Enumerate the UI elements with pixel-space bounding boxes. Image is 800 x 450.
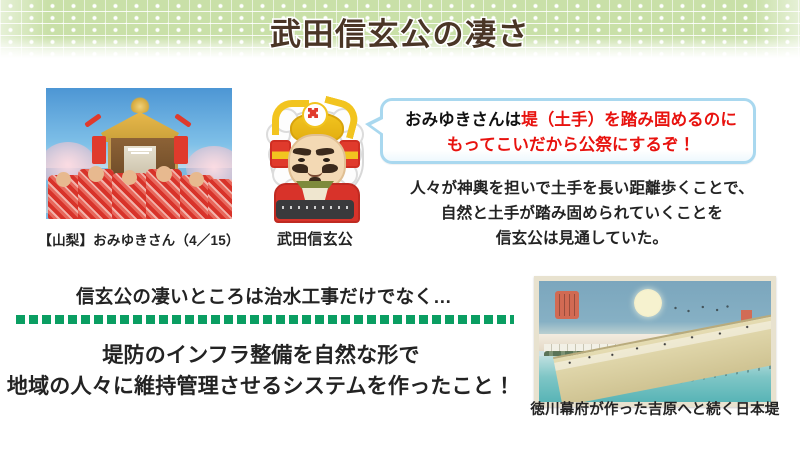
explanation-paragraph: 人々が神輿を担いで土手を長い距離歩くことで、 自然と土手が踏み固められていくこと… bbox=[372, 176, 792, 251]
page-title: 武田信玄公の凄さ bbox=[0, 9, 800, 54]
shingen-illustration-caption: 武田信玄公 bbox=[258, 228, 372, 249]
torii-gate-icon bbox=[128, 148, 152, 164]
mikoshi-drape bbox=[92, 136, 106, 164]
green-dashed-divider bbox=[16, 315, 514, 324]
ukiyoe-title-cartouche bbox=[555, 291, 579, 319]
ukiyoe-inner bbox=[539, 281, 771, 402]
festival-bearer bbox=[208, 179, 232, 219]
explanation-line-2: 自然と土手が踏み固められていくことを bbox=[372, 201, 792, 226]
slide-canvas: 武田信玄公の凄さ 【山梨】おみゆきさん（4／15） bbox=[0, 0, 800, 450]
mikoshi-drape bbox=[174, 136, 188, 164]
bearer-head bbox=[189, 172, 204, 187]
mikoshi-festival-photo bbox=[46, 88, 232, 219]
shingen-eye-left bbox=[298, 158, 305, 162]
shingen-eye-right bbox=[323, 158, 330, 162]
bottom-lead-text: 信玄公の凄いところは治水工事だけでなく… bbox=[14, 283, 514, 309]
ukiyoe-caption: 徳川幕府が作った吉原へと続く日本堤 bbox=[512, 398, 798, 419]
takeda-family-crest-icon bbox=[302, 102, 328, 128]
bearer-head bbox=[56, 172, 71, 187]
conclusion-line-1: 堤防のインフラ整備を自然な形で bbox=[6, 340, 516, 371]
bubble-line1-black: おみゆきさんは bbox=[405, 111, 521, 129]
conclusion-text: 堤防のインフラ整備を自然な形で 地域の人々に維持管理させるシステムを作ったこと！ bbox=[6, 340, 516, 402]
ukiyoe-print-image bbox=[534, 276, 776, 407]
bubble-line2-red: もってこいだから公祭にするぞ！ bbox=[447, 136, 695, 154]
explanation-line-3: 信玄公は見通していた。 bbox=[372, 226, 792, 251]
speech-bubble-text: おみゆきさんは堤（土手）を踏み固めるのに もってこいだから公祭にするぞ！ bbox=[383, 108, 759, 158]
bearer-head bbox=[156, 166, 172, 182]
shingen-mustache-left bbox=[292, 164, 308, 173]
ukiyoe-birds bbox=[669, 304, 734, 314]
bearer-head bbox=[122, 170, 137, 185]
shingen-armour-plate bbox=[276, 200, 354, 219]
mikoshi-finial-icon bbox=[130, 97, 150, 113]
speech-bubble: おみゆきさんは堤（土手）を踏み固めるのに もってこいだから公祭にするぞ！ bbox=[380, 98, 756, 164]
bubble-line1-red: 堤（土手）を踏み固めるのに bbox=[521, 111, 737, 129]
conclusion-line-2: 地域の人々に維持管理させるシステムを作ったこと！ bbox=[6, 371, 516, 402]
mikoshi-photo-caption: 【山梨】おみゆきさん（4／15） bbox=[36, 229, 242, 249]
bearer-head bbox=[88, 166, 104, 182]
takeda-shingen-illustration bbox=[262, 88, 368, 218]
explanation-line-1: 人々が神輿を担いで土手を長い距離歩くことで、 bbox=[372, 176, 792, 201]
